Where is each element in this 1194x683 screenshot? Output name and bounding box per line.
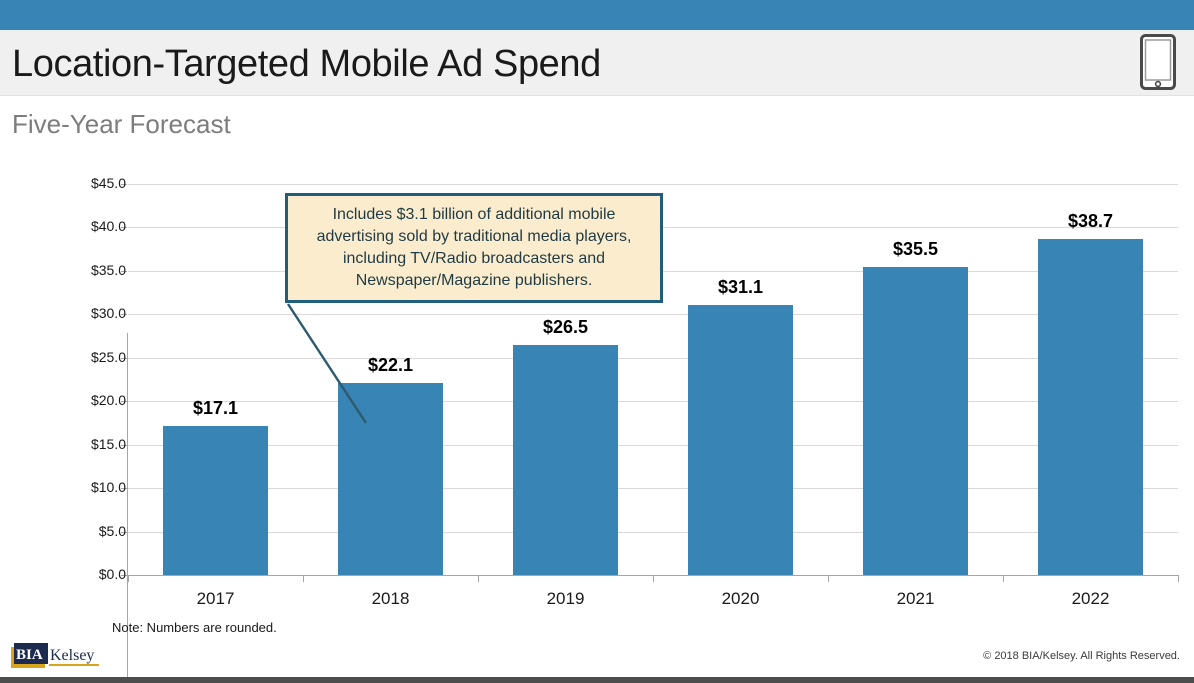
y-axis-label: $40.0 [56, 218, 126, 234]
gridline [128, 358, 1178, 359]
smartphone-icon [1140, 34, 1176, 90]
y-axis-label: $30.0 [56, 305, 126, 321]
bar-value-label: $31.1 [653, 277, 828, 298]
gridline [128, 184, 1178, 185]
y-axis-label: $15.0 [56, 436, 126, 452]
bar [863, 267, 968, 575]
svg-text:BIA: BIA [16, 647, 43, 663]
bia-kelsey-logo: BIA Kelsey [8, 640, 100, 672]
x-axis-tick [478, 575, 479, 582]
copyright-text: © 2018 BIA/Kelsey. All Rights Reserved. [983, 650, 1180, 662]
slide-root: Location-Targeted Mobile Ad Spend Five-Y… [0, 0, 1194, 683]
x-axis-label: 2022 [1003, 589, 1178, 609]
bar-value-label: $26.5 [478, 317, 653, 338]
x-axis-tick [1003, 575, 1004, 582]
chart-note: Note: Numbers are rounded. [112, 620, 277, 635]
bar [163, 426, 268, 575]
x-axis-label: 2019 [478, 589, 653, 609]
y-axis-label: $25.0 [56, 349, 126, 365]
bar [513, 345, 618, 575]
x-axis-tick [653, 575, 654, 582]
callout-box: Includes $3.1 billion of additional mobi… [285, 193, 663, 303]
x-axis-label: 2020 [653, 589, 828, 609]
gridline [128, 532, 1178, 533]
y-axis-label: $0.0 [56, 566, 126, 582]
svg-text:Kelsey: Kelsey [50, 647, 94, 664]
top-accent-bar [0, 0, 1194, 30]
y-axis-label: $10.0 [56, 479, 126, 495]
gridline [128, 445, 1178, 446]
x-axis-label: 2017 [128, 589, 303, 609]
y-axis-label: $35.0 [56, 262, 126, 278]
x-axis-label: 2018 [303, 589, 478, 609]
bottom-accent-bar [0, 677, 1194, 683]
bar [1038, 239, 1143, 575]
bar-value-label: $38.7 [1003, 211, 1178, 232]
bar-value-label: $22.1 [303, 355, 478, 376]
y-axis-label: $45.0 [56, 175, 126, 191]
page-subtitle: Five-Year Forecast [12, 108, 231, 140]
x-axis-tick [128, 575, 129, 582]
callout-text: Includes $3.1 billion of additional mobi… [298, 204, 650, 292]
bar [338, 383, 443, 575]
bar-value-label: $35.5 [828, 239, 1003, 260]
x-axis-tick [828, 575, 829, 582]
bar-value-label: $17.1 [128, 398, 303, 419]
x-axis-tick [303, 575, 304, 582]
y-axis-label: $5.0 [56, 523, 126, 539]
gridline [128, 314, 1178, 315]
gridline [128, 488, 1178, 489]
x-axis-label: 2021 [828, 589, 1003, 609]
page-title: Location-Targeted Mobile Ad Spend [12, 41, 601, 87]
y-axis-label: $20.0 [56, 392, 126, 408]
x-axis-tick [1178, 575, 1179, 582]
bar [688, 305, 793, 575]
